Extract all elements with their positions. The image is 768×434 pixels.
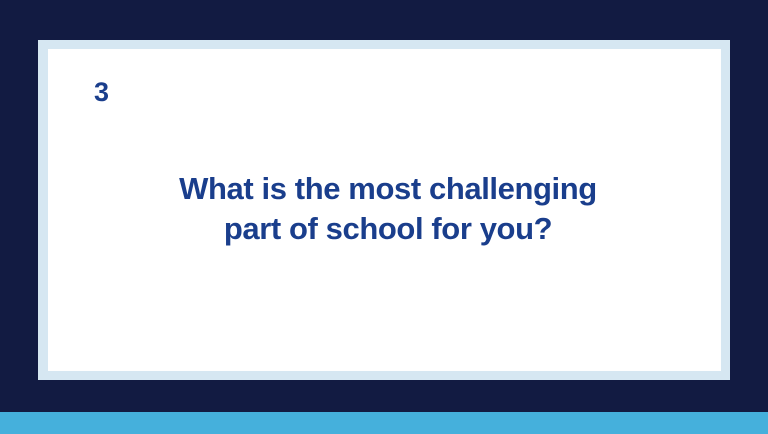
slide-card-frame: 3 What is the most challenging part of s… bbox=[38, 40, 730, 380]
slide-card-content: 3 What is the most challenging part of s… bbox=[48, 49, 721, 371]
slide-canvas: 3 What is the most challenging part of s… bbox=[0, 0, 768, 434]
bottom-accent-bar bbox=[0, 412, 768, 434]
question-heading: What is the most challenging part of sch… bbox=[118, 169, 658, 248]
question-number: 3 bbox=[94, 79, 109, 106]
